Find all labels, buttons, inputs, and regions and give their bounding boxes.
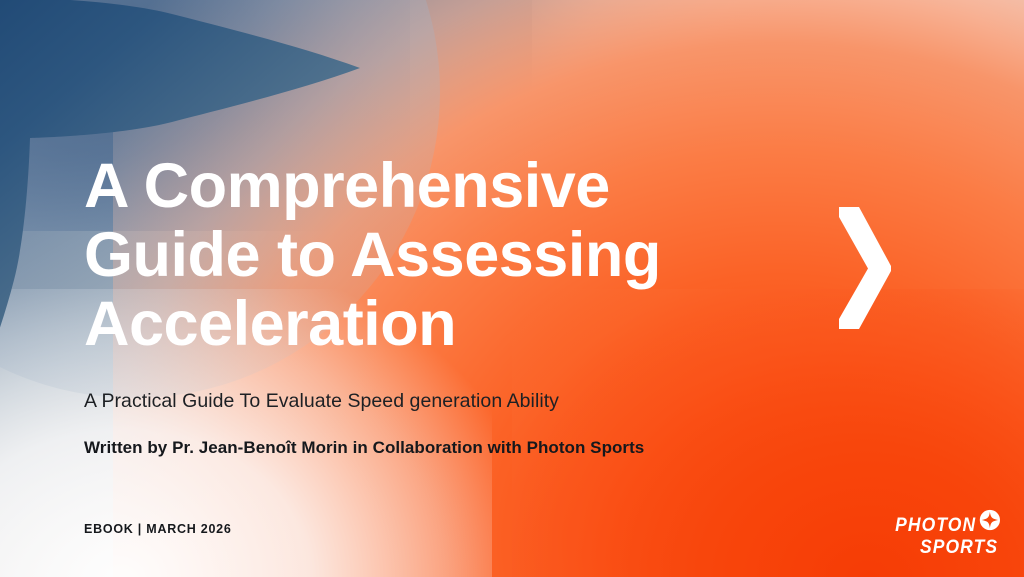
cover-text-block: A Comprehensive Guide to Assessing Accel… bbox=[84, 0, 784, 577]
ebook-cover: A Comprehensive Guide to Assessing Accel… bbox=[0, 0, 1024, 577]
page-title-line-1: A Comprehensive bbox=[84, 152, 684, 221]
chevron-right-icon bbox=[838, 207, 892, 329]
photon-sports-logo[interactable]: PHOTON SPORTS bbox=[886, 516, 1000, 557]
page-title: A Comprehensive Guide to Assessing Accel… bbox=[84, 152, 684, 359]
logo-text-photon-label: PHOTON bbox=[895, 515, 976, 536]
author-credit: Written by Pr. Jean-Benoît Morin in Coll… bbox=[84, 436, 644, 460]
page-subtitle: A Practical Guide To Evaluate Speed gene… bbox=[84, 388, 559, 414]
publication-meta: EBOOK | MARCH 2026 bbox=[84, 521, 232, 537]
logo-text-sports: SPORTS bbox=[920, 538, 1000, 557]
page-title-line-2: Guide to Assessing bbox=[84, 221, 684, 290]
logo-text-photon: PHOTON bbox=[895, 516, 1000, 535]
sparkle-badge-icon bbox=[979, 509, 1001, 531]
page-title-line-3: Acceleration bbox=[84, 290, 684, 359]
